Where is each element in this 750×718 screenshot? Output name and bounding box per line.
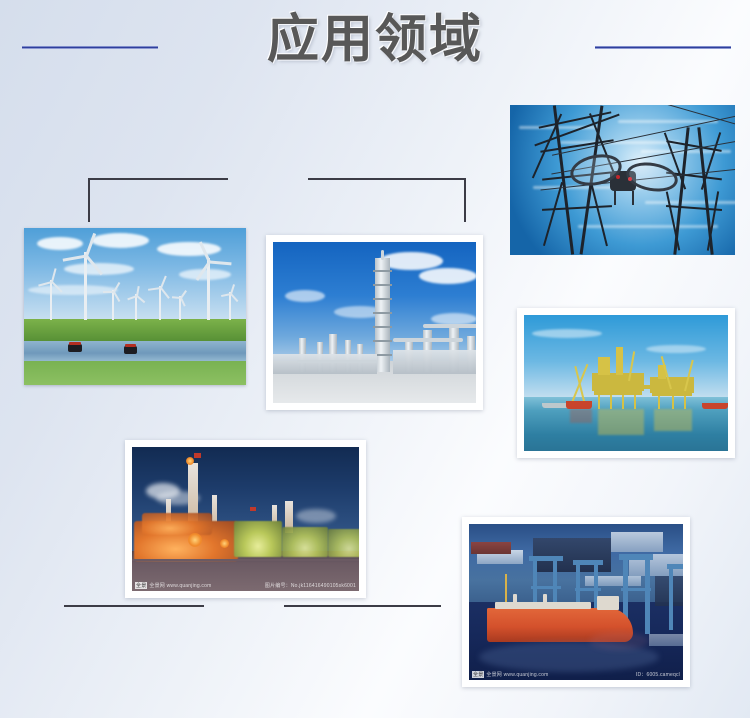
platform-leg — [672, 396, 674, 409]
warehouse — [611, 532, 663, 552]
cloud-icon — [419, 268, 476, 284]
photo-refinery-daytime — [266, 235, 483, 410]
ship-crane — [543, 594, 547, 604]
offshore-platform-scene — [524, 315, 728, 451]
port-shipyard-scene: 全景全景网 www.quanjing.com ID：6005.cameqcl — [469, 524, 683, 680]
platform-leg — [658, 396, 660, 409]
watermark-right: ID：6005.cameqcl — [636, 671, 680, 678]
illuminated-process-unit — [328, 529, 359, 557]
support-vessel — [566, 401, 592, 409]
horse — [68, 344, 82, 352]
wind-turbine — [224, 292, 236, 320]
wind-turbine — [174, 296, 185, 320]
title-rule-left — [22, 46, 158, 49]
bracket-right-vertical — [464, 178, 466, 222]
ship-crane — [513, 594, 517, 604]
drone-landing-leg — [614, 191, 616, 205]
flare-flame — [186, 457, 194, 465]
flare-glow — [188, 533, 202, 547]
refinery-day-scene — [273, 242, 476, 403]
drone-landing-leg — [632, 191, 634, 205]
wind-farm-scene — [24, 228, 246, 385]
wind-turbine — [106, 290, 120, 320]
platform-leg — [622, 395, 624, 409]
process-unit — [273, 354, 377, 374]
photo-power-transmission — [510, 105, 735, 255]
platform-leg — [634, 395, 636, 409]
watermark-left: 全景全景网 www.quanjing.com — [472, 671, 548, 678]
illuminated-process-unit — [234, 521, 282, 557]
photo-port-shipyard: 全景全景网 www.quanjing.com ID：6005.cameqcl — [462, 517, 690, 687]
connector-line-bottom-right — [284, 605, 441, 607]
watermark-right: 图片编号：No.jk116416490105sk6001 — [265, 582, 356, 589]
platform-leg — [598, 395, 600, 409]
bracket-left — [88, 178, 228, 222]
drone-status-led — [628, 177, 632, 181]
derrick — [616, 347, 623, 375]
flag — [250, 507, 256, 511]
photo-wind-farm — [24, 228, 246, 385]
bracket-right — [308, 178, 466, 222]
column-stack — [381, 250, 384, 260]
horse — [124, 346, 137, 354]
gantry-crane — [667, 564, 683, 630]
page-title: 应用领域 — [0, 14, 750, 66]
bracket-left-vertical — [88, 178, 90, 222]
pipe-rack — [297, 360, 377, 363]
wind-turbine — [130, 294, 142, 320]
bracket-left-horizontal — [88, 178, 228, 180]
platform-module — [598, 357, 610, 375]
watermark-left: 全景全景网 www.quanjing.com — [135, 582, 211, 589]
cloud-icon — [91, 233, 149, 248]
bracket-right-horizontal — [308, 178, 466, 180]
platform-leg — [684, 396, 686, 409]
cloud-icon — [532, 329, 602, 338]
cloud-icon — [646, 345, 706, 353]
power-transmission-scene — [510, 105, 735, 255]
wind-turbine — [42, 280, 60, 320]
wind-turbine — [152, 286, 168, 320]
drone-status-led — [616, 175, 620, 179]
grassland-near — [24, 361, 246, 385]
refinery-night-scene: 全景全景网 www.quanjing.com 图片编号：No.jk1164164… — [132, 447, 359, 591]
title-rule-right — [595, 46, 731, 49]
application-fields-banner: 应用领域 — [0, 0, 750, 718]
photo-refinery-night: 全景全景网 www.quanjing.com 图片编号：No.jk1164164… — [125, 440, 366, 598]
distillation-column — [375, 258, 390, 372]
platform-leg — [610, 395, 612, 409]
flare-glow — [220, 539, 229, 548]
connector-line-bottom-left — [64, 605, 204, 607]
wind-turbine — [196, 258, 220, 320]
platform-bridge — [642, 385, 654, 389]
illuminated-process-unit — [282, 527, 328, 557]
flag — [194, 453, 201, 458]
pipe-rack — [423, 324, 476, 328]
wind-turbine — [72, 252, 98, 320]
quay — [649, 634, 683, 646]
pipe-rack — [393, 338, 463, 342]
warehouse — [471, 542, 511, 554]
roadway-edge — [132, 559, 359, 561]
process-unit — [393, 350, 476, 374]
support-vessel — [702, 403, 728, 409]
ship-superstructure — [597, 596, 619, 610]
illuminated-process-unit — [142, 513, 212, 535]
photo-offshore-platform — [517, 308, 735, 458]
